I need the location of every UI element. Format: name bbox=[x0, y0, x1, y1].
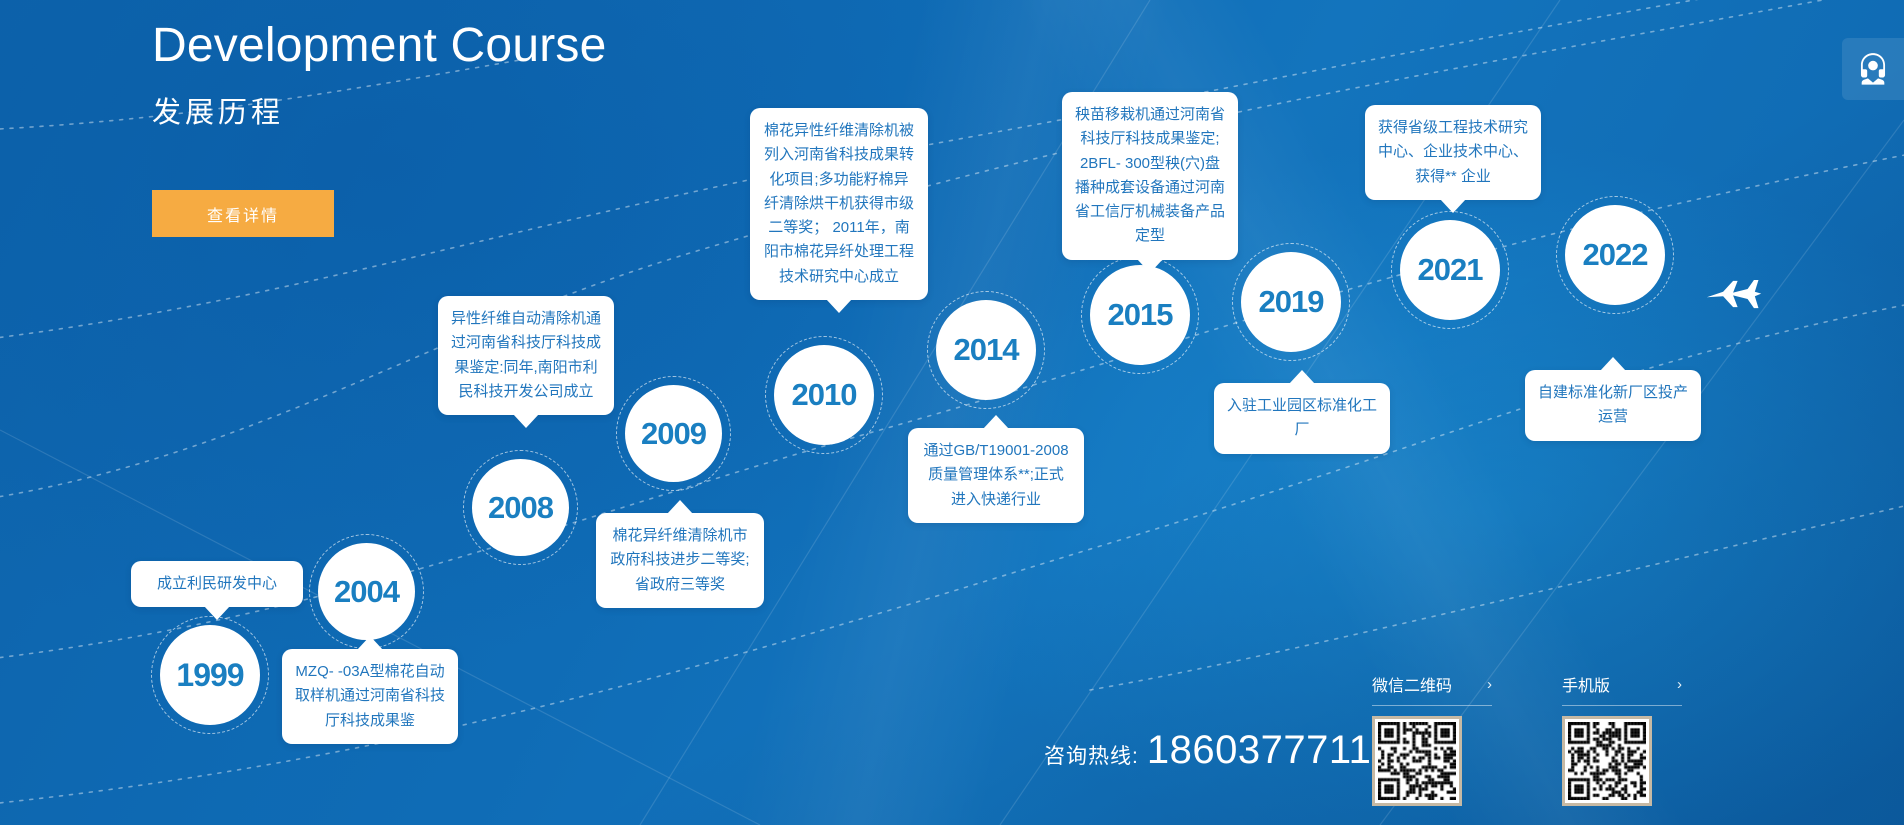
qr-wechat-header[interactable]: 微信二维码 › bbox=[1372, 672, 1492, 706]
timeline-year-2014[interactable]: 2014 bbox=[936, 300, 1036, 400]
chevron-right-icon: › bbox=[1677, 676, 1682, 693]
qr-mobile-header[interactable]: 手机版 › bbox=[1562, 672, 1682, 706]
timeline-card-2019[interactable]: 入驻工业园区标准化工厂 bbox=[1214, 383, 1390, 454]
timeline-year-2008[interactable]: 2008 bbox=[472, 459, 569, 556]
qr-wechat-image bbox=[1372, 716, 1462, 806]
timeline-year-2022[interactable]: 2022 bbox=[1565, 205, 1665, 305]
timeline-card-2014[interactable]: 通过GB/T19001-2008质量管理体系**;正式进入快递行业 bbox=[908, 428, 1084, 523]
timeline-year-2004[interactable]: 2004 bbox=[318, 543, 415, 640]
qr-wechat-label: 微信二维码 bbox=[1372, 672, 1452, 696]
timeline-year-1999[interactable]: 1999 bbox=[160, 625, 260, 725]
timeline-year-2015[interactable]: 2015 bbox=[1090, 265, 1190, 365]
hotline-number: 18603777118 bbox=[1147, 728, 1394, 773]
hotline: 咨询热线: 18603777118 bbox=[1044, 728, 1394, 773]
qr-wechat: 微信二维码 › bbox=[1372, 672, 1492, 806]
qr-mobile-label: 手机版 bbox=[1562, 672, 1610, 696]
chevron-right-icon: › bbox=[1487, 676, 1492, 693]
timeline-card-1999[interactable]: 成立利民研发中心 bbox=[131, 561, 303, 607]
timeline-year-2010[interactable]: 2010 bbox=[774, 345, 874, 445]
qr-mobile: 手机版 › bbox=[1562, 672, 1682, 806]
timeline-year-2009[interactable]: 2009 bbox=[625, 385, 722, 482]
timeline-card-2015[interactable]: 秧苗移栽机通过河南省科技厅科技成果鉴定; 2BFL- 300型秧(穴)盘播种成套… bbox=[1062, 92, 1238, 260]
timeline-card-2010[interactable]: 棉花异性纤维清除机被列入河南省科技成果转化项目;多功能籽棉异纤清除烘干机获得市级… bbox=[750, 108, 928, 300]
timeline-card-2009[interactable]: 棉花异纤维清除机市政府科技进步二等奖; 省政府三等奖 bbox=[596, 513, 764, 608]
timeline-card-2004[interactable]: MZQ- -03A型棉花自动取样机通过河南省科技厅科技成果鉴 bbox=[282, 649, 458, 744]
timeline-card-2022[interactable]: 自建标准化新厂区投产运营 bbox=[1525, 370, 1701, 441]
hotline-label: 咨询热线: bbox=[1044, 740, 1139, 770]
timeline-year-2021[interactable]: 2021 bbox=[1400, 220, 1500, 320]
timeline-card-2008[interactable]: 异性纤维自动清除机通过河南省科技厅科技成果鉴定:同年,南阳市利民科技开发公司成立 bbox=[438, 296, 614, 415]
qr-mobile-image bbox=[1562, 716, 1652, 806]
timeline-year-2019[interactable]: 2019 bbox=[1241, 252, 1341, 352]
timeline-card-2021[interactable]: 获得省级工程技术研究中心、企业技术中心、获得** 企业 bbox=[1365, 105, 1541, 200]
